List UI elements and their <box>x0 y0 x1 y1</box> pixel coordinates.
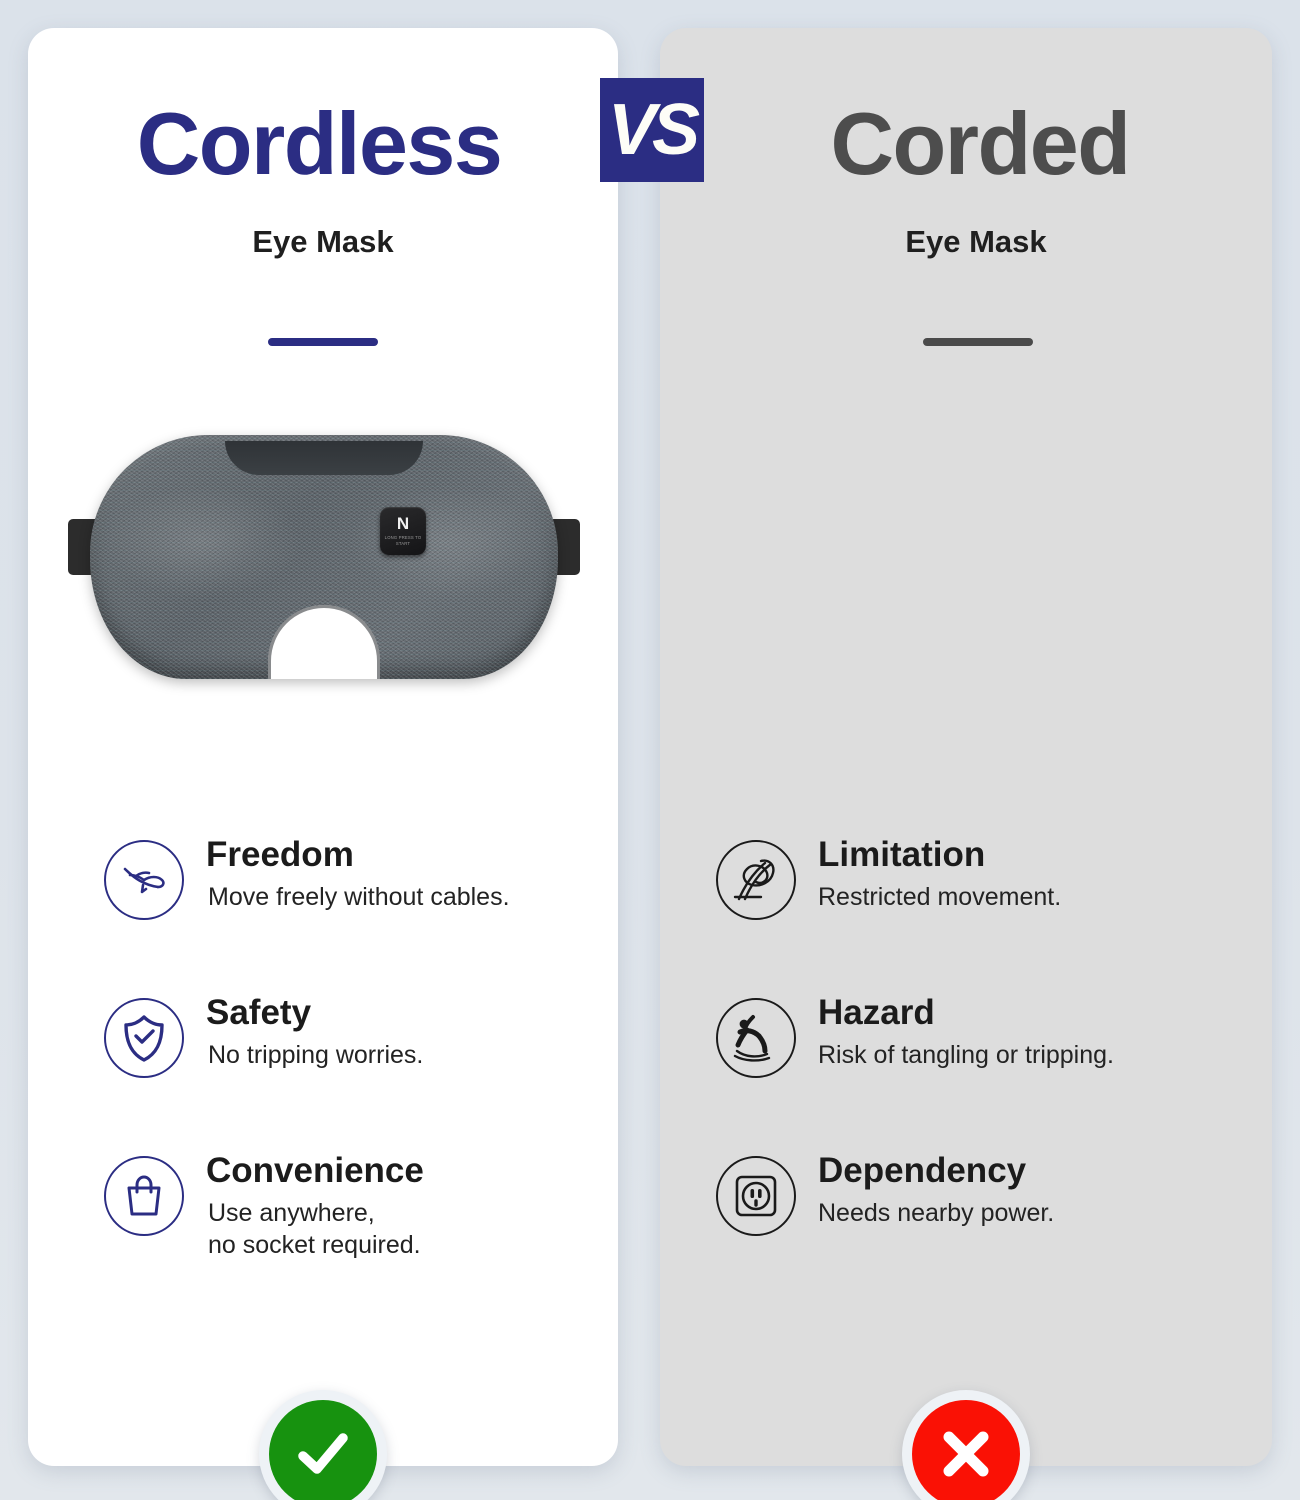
mask-body <box>90 435 558 679</box>
corded-subhead: Eye Mask <box>660 224 1272 260</box>
cordless-eye-mask-image: N LONG PRESS TO START <box>68 423 580 688</box>
slip-fall-icon <box>716 998 796 1078</box>
feature-desc: Use anywhere, no socket required. <box>206 1197 424 1261</box>
feature-text: Freedom Move freely without cables. <box>206 834 510 913</box>
feature-desc: Move freely without cables. <box>206 881 510 913</box>
bird-flying-icon <box>104 840 184 920</box>
power-outlet-icon <box>716 1156 796 1236</box>
mask-brow <box>225 441 423 475</box>
feature-desc: Restricted movement. <box>818 881 1061 913</box>
power-button[interactable]: N LONG PRESS TO START <box>380 507 426 555</box>
power-button-hint: LONG PRESS TO START <box>380 535 426 546</box>
feature-desc: No tripping worries. <box>206 1039 423 1071</box>
comparison-infographic: Cordless Eye Mask N LONG PRESS TO START <box>0 0 1300 1500</box>
feature-desc: Needs nearby power. <box>818 1197 1054 1229</box>
feature-text: Convenience Use anywhere, no socket requ… <box>206 1150 424 1261</box>
cordless-headline: Cordless <box>28 100 618 188</box>
shield-check-icon <box>104 998 184 1078</box>
feature-title: Dependency <box>818 1152 1054 1191</box>
feature-desc: Risk of tangling or tripping. <box>818 1039 1114 1071</box>
feature-title: Limitation <box>818 836 1061 875</box>
feature-item-hazard: Hazard Risk of tangling or tripping. <box>660 992 1272 1104</box>
shopping-bag-icon <box>104 1156 184 1236</box>
feature-item-limitation: Limitation Restricted movement. <box>660 834 1272 946</box>
corded-panel: Corded Eye Mask <box>660 28 1272 1466</box>
corded-headline: Corded <box>660 100 1272 188</box>
feature-item-freedom: Freedom Move freely without cables. <box>28 834 618 946</box>
verdict-disc <box>912 1400 1020 1500</box>
vs-badge: VS <box>600 78 704 182</box>
verdict-badge-cross <box>902 1390 1030 1500</box>
corded-feature-list: Limitation Restricted movement. <box>660 834 1272 1308</box>
verdict-badge-check <box>259 1390 387 1500</box>
corded-divider-rule <box>923 338 1033 346</box>
tangled-cord-icon <box>716 840 796 920</box>
brand-logo-n: N <box>397 515 409 532</box>
feature-text: Safety No tripping worries. <box>206 992 423 1071</box>
feature-item-dependency: Dependency Needs nearby power. <box>660 1150 1272 1262</box>
feature-title: Safety <box>206 994 423 1033</box>
mask-nose-notch <box>268 605 380 679</box>
vs-badge-label: VS <box>608 94 696 166</box>
cordless-subhead: Eye Mask <box>28 224 618 260</box>
feature-title: Freedom <box>206 836 510 875</box>
feature-text: Hazard Risk of tangling or tripping. <box>818 992 1114 1071</box>
cordless-divider-rule <box>268 338 378 346</box>
feature-item-safety: Safety No tripping worries. <box>28 992 618 1104</box>
feature-text: Limitation Restricted movement. <box>818 834 1061 913</box>
feature-text: Dependency Needs nearby power. <box>818 1150 1054 1229</box>
cordless-panel: Cordless Eye Mask N LONG PRESS TO START <box>28 28 618 1466</box>
feature-title: Convenience <box>206 1152 424 1191</box>
feature-item-convenience: Convenience Use anywhere, no socket requ… <box>28 1150 618 1262</box>
verdict-disc <box>269 1400 377 1500</box>
cordless-feature-list: Freedom Move freely without cables. Safe… <box>28 834 618 1308</box>
feature-title: Hazard <box>818 994 1114 1033</box>
